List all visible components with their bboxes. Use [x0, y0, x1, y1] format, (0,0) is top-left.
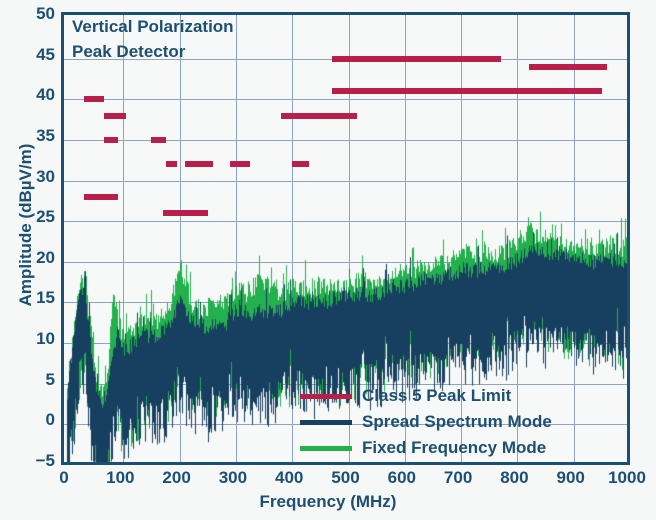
- limit-segment: [332, 88, 602, 94]
- legend-swatch-fixed-frequency: [300, 446, 352, 451]
- legend-item-fixed-frequency: Fixed Frequency Mode: [300, 437, 552, 459]
- limit-segment: [529, 64, 608, 70]
- limit-segment: [84, 96, 104, 102]
- plot-title-line1: Vertical Polarization: [72, 14, 234, 39]
- y-tick-15: 15: [36, 288, 55, 308]
- legend-label-fixed-frequency: Fixed Frequency Mode: [362, 438, 546, 458]
- limit-segment: [104, 137, 118, 143]
- limit-segment: [332, 56, 501, 62]
- x-axis-title: Frequency (MHz): [0, 492, 656, 512]
- legend-swatch-limit: [300, 394, 352, 399]
- plot-title: Vertical Polarization Peak Detector: [72, 14, 234, 64]
- limit-segment: [104, 113, 127, 119]
- y-tick-0: 0: [46, 410, 55, 430]
- y-tick-20: 20: [36, 248, 55, 268]
- legend-label-spread-spectrum: Spread Spectrum Mode: [362, 412, 552, 432]
- limit-segment: [84, 194, 118, 200]
- limit-segment: [151, 137, 165, 143]
- limit-segment: [166, 161, 177, 167]
- limit-segment: [185, 161, 213, 167]
- y-tick-10: 10: [36, 329, 55, 349]
- legend-label-limit: Class 5 Peak Limit: [362, 386, 511, 406]
- limit-segment: [281, 113, 357, 119]
- y-tick-45: 45: [36, 45, 55, 65]
- emi-scan-chart: Amplitude (dBµV/m) −50510152025303540455…: [0, 0, 656, 520]
- y-axis-title: Amplitude (dBµV/m): [16, 95, 36, 355]
- legend-item-spread-spectrum: Spread Spectrum Mode: [300, 411, 552, 433]
- legend-swatch-spread-spectrum: [300, 420, 352, 425]
- x-tick-1000: 1000: [587, 468, 656, 488]
- y-tick-50: 50: [36, 4, 55, 24]
- y-tick-25: 25: [36, 207, 55, 227]
- chart-legend: Class 5 Peak Limit Spread Spectrum Mode …: [300, 385, 552, 459]
- legend-item-limit: Class 5 Peak Limit: [300, 385, 552, 407]
- limit-segment: [163, 210, 208, 216]
- y-tick-30: 30: [36, 167, 55, 187]
- y-tick-40: 40: [36, 85, 55, 105]
- y-tick-35: 35: [36, 126, 55, 146]
- y-tick-5: 5: [46, 370, 55, 390]
- limit-segment: [292, 161, 309, 167]
- limit-segment: [230, 161, 250, 167]
- plot-title-line2: Peak Detector: [72, 39, 234, 64]
